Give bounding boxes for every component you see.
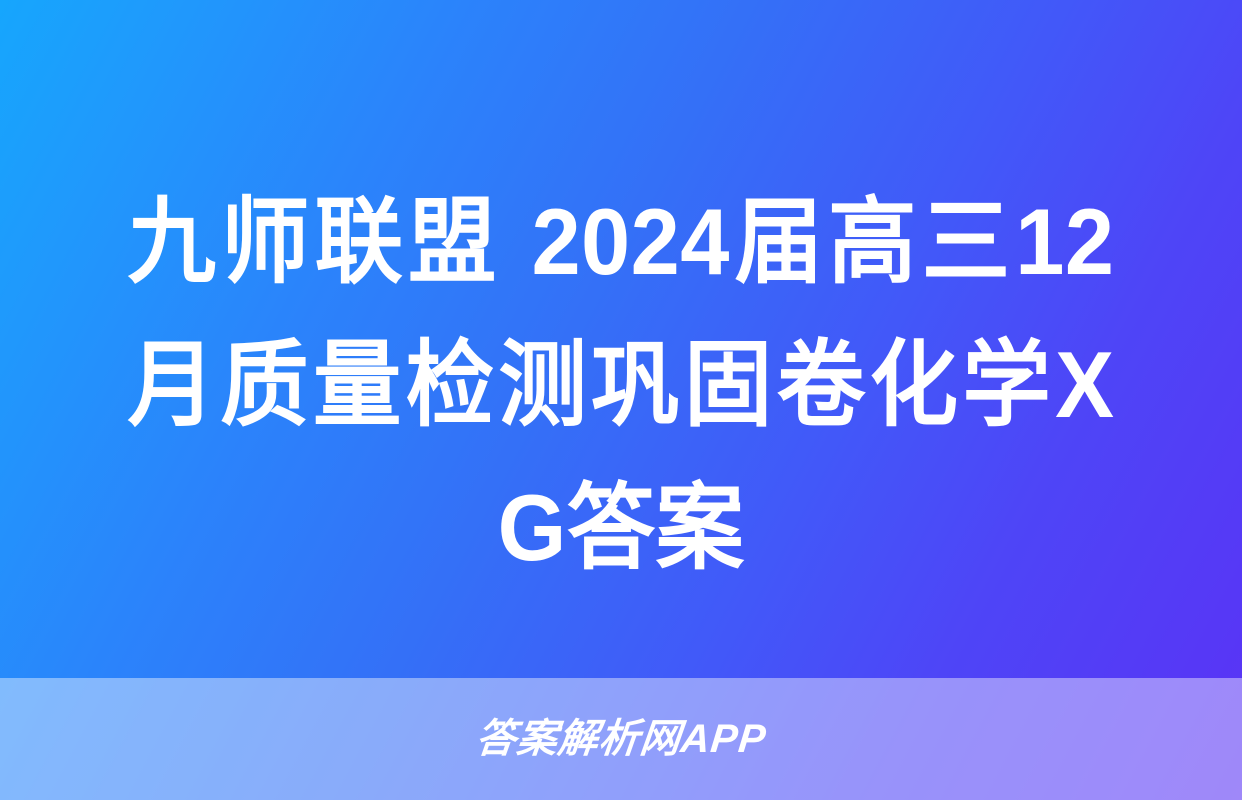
page-title: 九师联盟 2024届高三12月质量检测巩固卷化学XG答案: [128, 170, 1115, 599]
watermark-bar: 答案解析网APP: [0, 678, 1242, 800]
share-card: 九师联盟 2024届高三12月质量检测巩固卷化学XG答案 答案解析网APP: [0, 0, 1242, 800]
title-block: 九师联盟 2024届高三12月质量检测巩固卷化学XG答案: [0, 170, 1242, 599]
watermark-text: 答案解析网APP: [474, 719, 768, 759]
